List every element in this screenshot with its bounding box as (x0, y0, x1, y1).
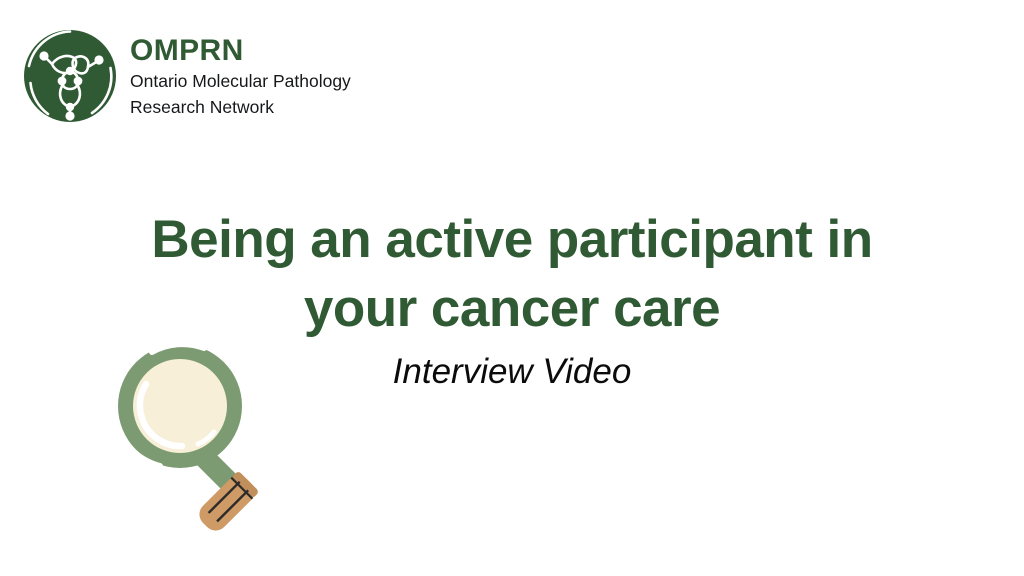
omprn-acronym: OMPRN (130, 36, 351, 66)
magnifying-glass-icon (108, 336, 298, 536)
slide-canvas: OMPRN Ontario Molecular Pathology Resear… (0, 0, 1024, 576)
omprn-name-line-1: Ontario Molecular Pathology (130, 70, 351, 92)
omprn-network-logo-mark-icon (22, 28, 118, 124)
slide-headline: Being an active participant in your canc… (0, 206, 1024, 344)
omprn-name-line-2: Research Network (130, 96, 351, 118)
omprn-logo-text: OMPRN Ontario Molecular Pathology Resear… (130, 36, 351, 119)
omprn-logo-lockup: OMPRN Ontario Molecular Pathology Resear… (22, 28, 351, 124)
headline-line-2: your cancer care (0, 275, 1024, 344)
headline-line-1: Being an active participant in (0, 206, 1024, 275)
